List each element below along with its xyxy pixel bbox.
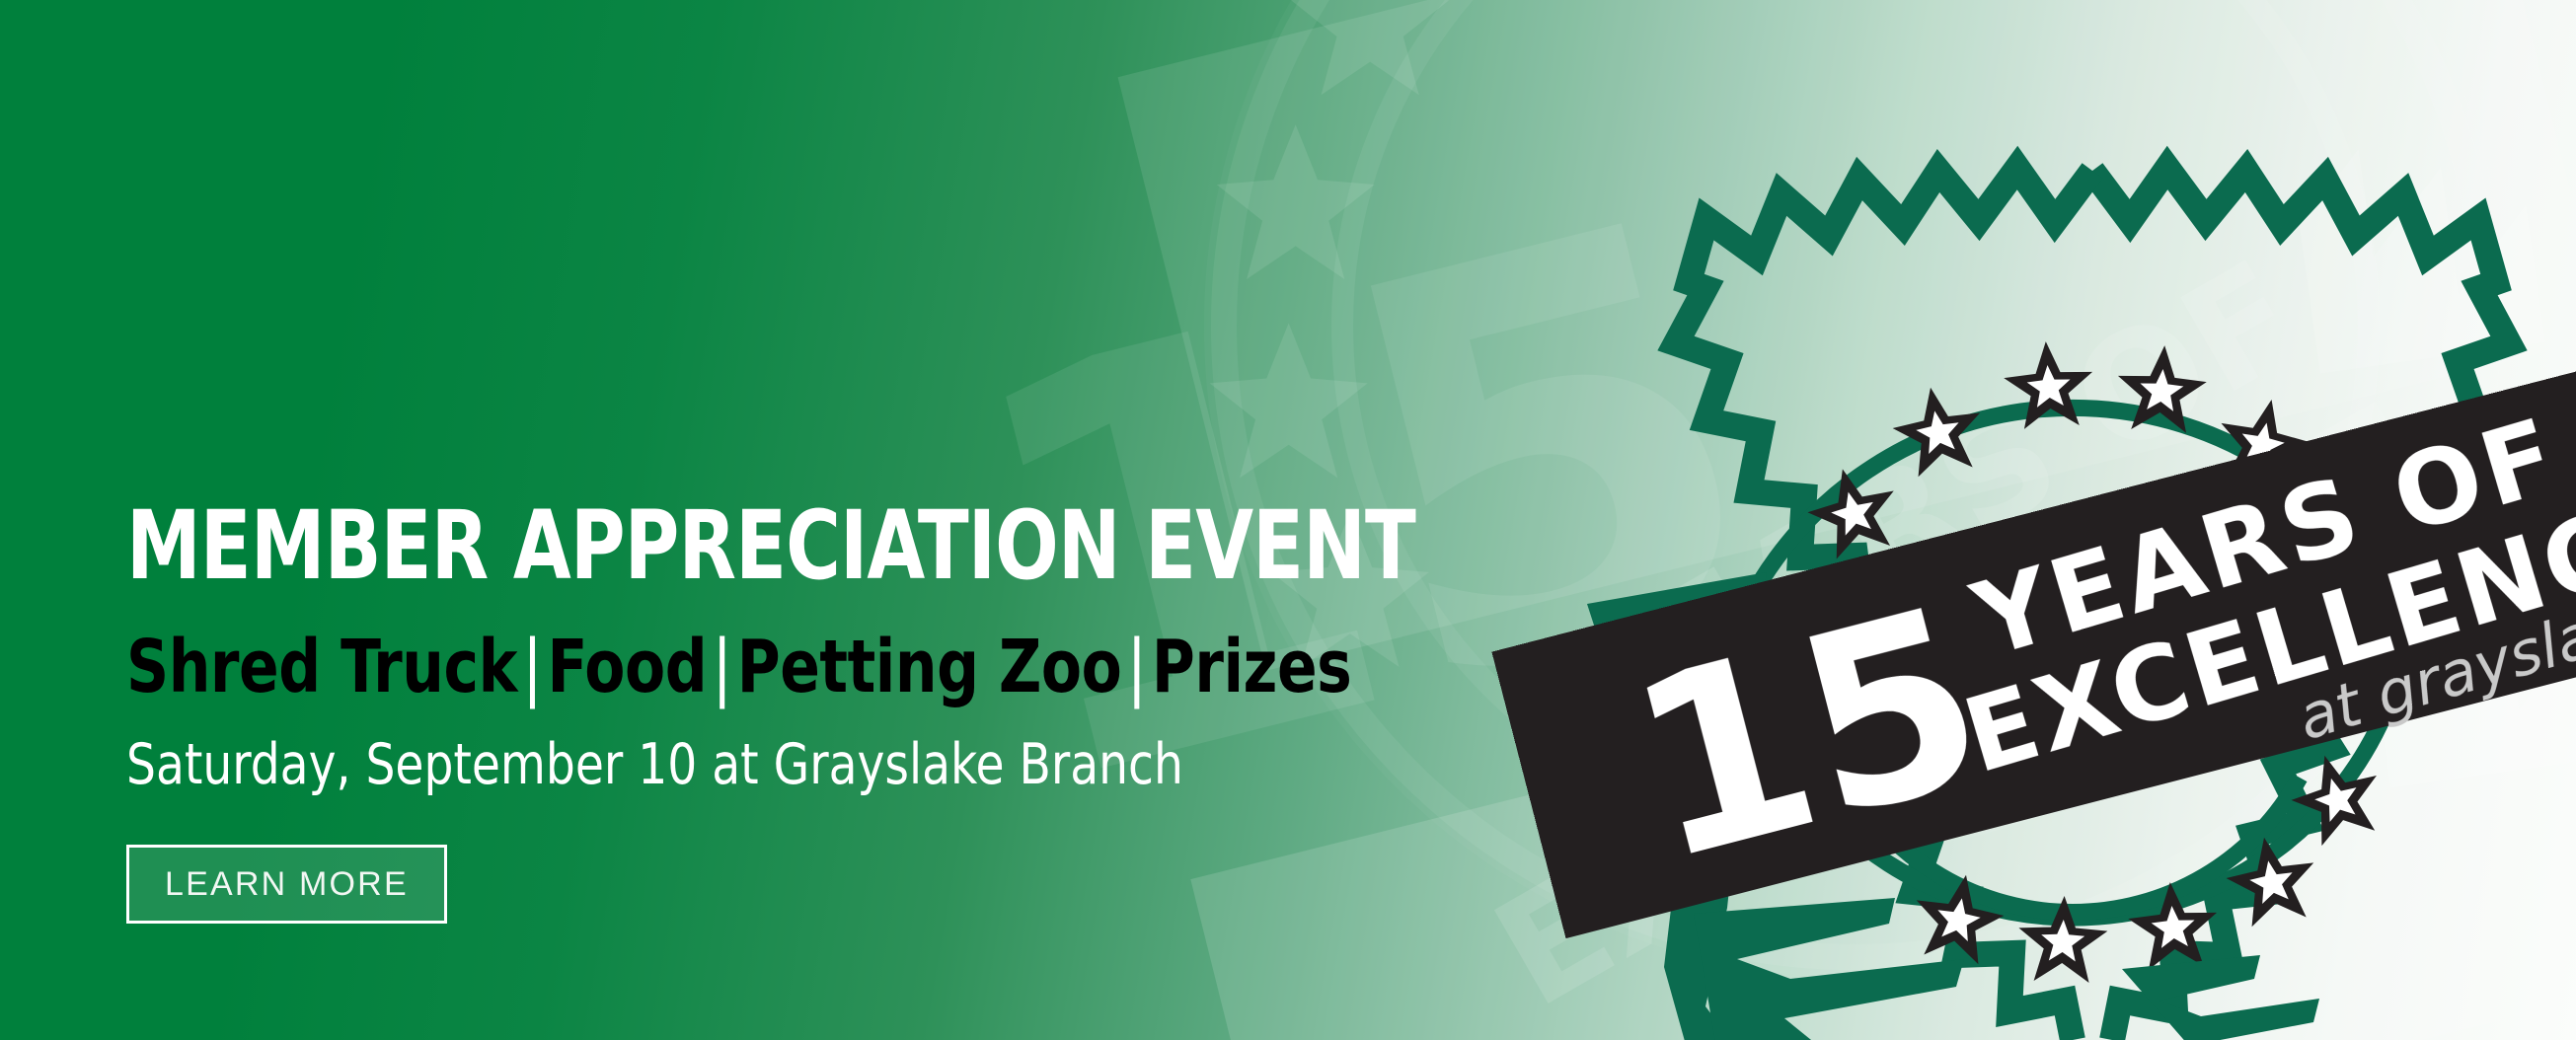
subhead-separator: |	[517, 625, 548, 709]
subhead-item-1: Food	[548, 625, 708, 709]
subhead-separator: |	[1121, 625, 1152, 709]
banner-subhead: Shred Truck|Food|Petting Zoo|Prizes	[126, 631, 1388, 704]
banner-copy: MEMBER APPRECIATION EVENT Shred Truck|Fo…	[126, 498, 1528, 924]
subhead-separator: |	[707, 625, 737, 709]
learn-more-button[interactable]: LEARN MORE	[126, 845, 447, 924]
subhead-item-3: Prizes	[1152, 625, 1351, 709]
promo-banner: 15 YEARS OF EXCELLENCE MEMBER APPRECIATI…	[0, 0, 2576, 1040]
subhead-item-0: Shred Truck	[126, 625, 517, 709]
seal-banner: 15 YEARS OF EXCELLENCE at grayslake	[1491, 352, 2576, 957]
event-dateline: Saturday, September 10 at Grayslake Bran…	[126, 737, 1415, 793]
anniversary-seal: 15 YEARS OF EXCELLENCE at grayslake	[1569, 118, 2576, 1040]
subhead-item-2: Petting Zoo	[737, 625, 1122, 709]
page-title: MEMBER APPRECIATION EVENT	[126, 498, 1360, 593]
